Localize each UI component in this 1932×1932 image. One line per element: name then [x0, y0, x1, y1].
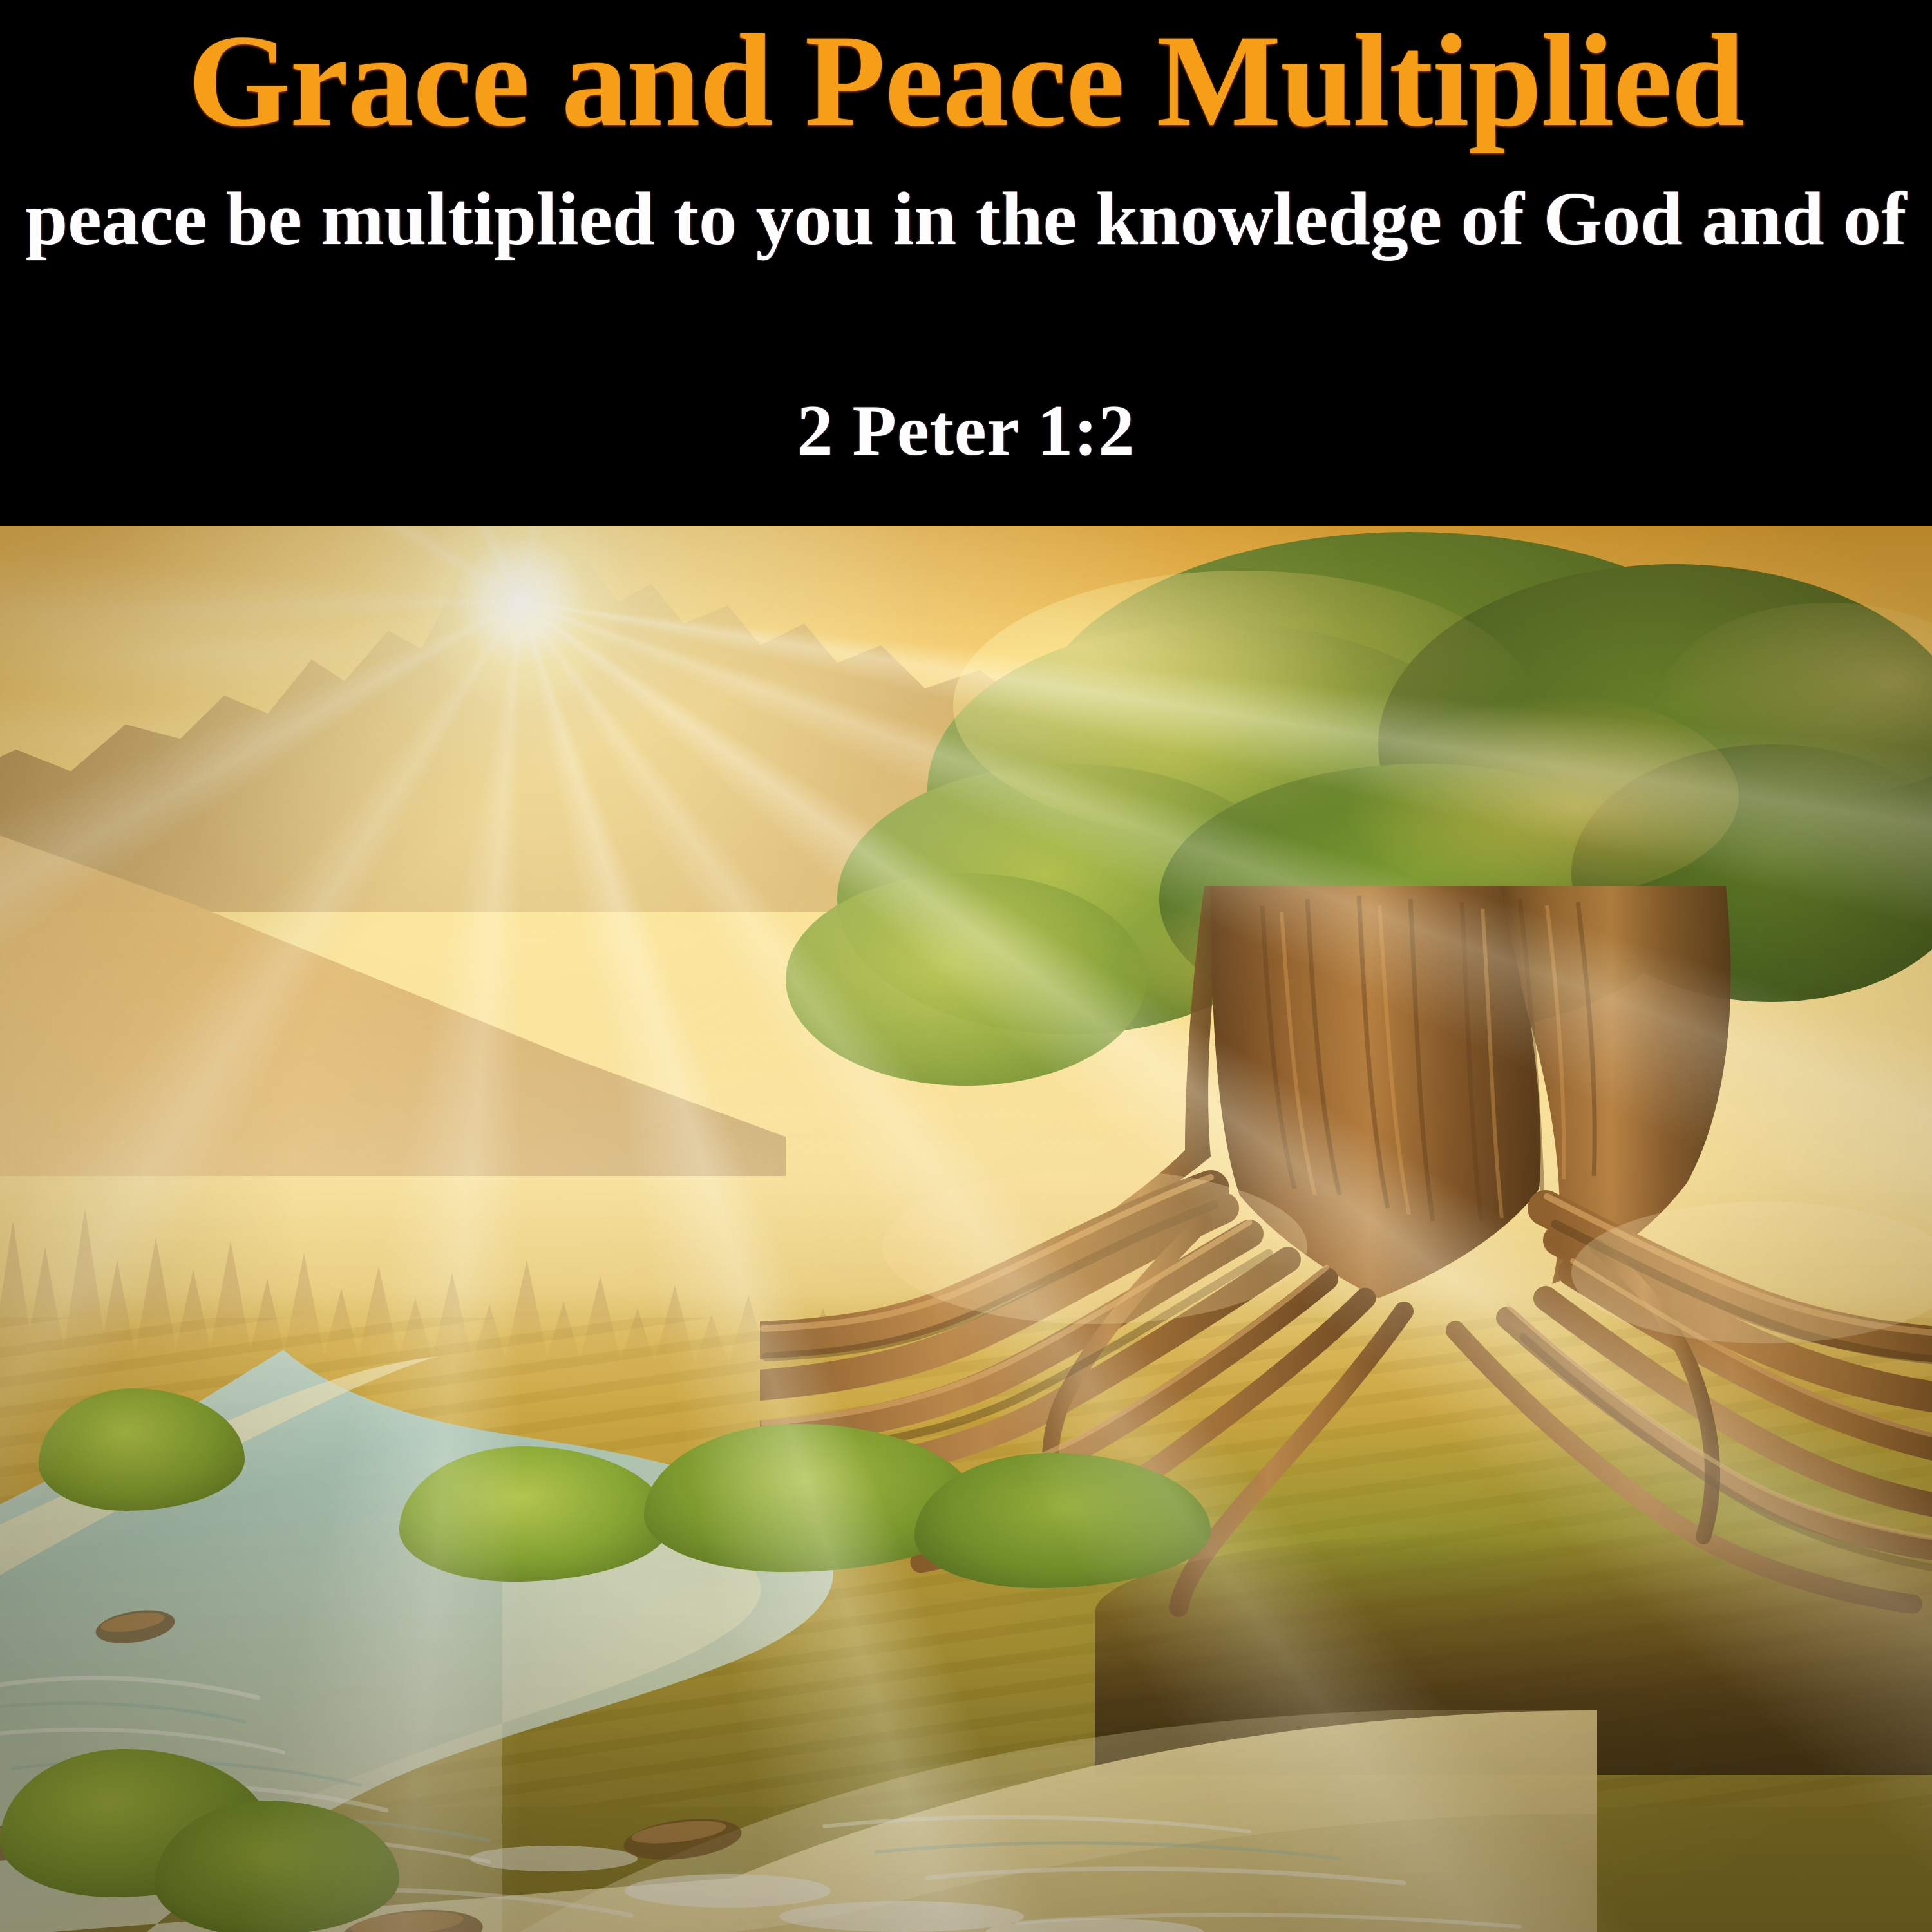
scripture-banner: Grace and Peace Multiplied peace be mult…	[0, 0, 1932, 526]
verse-row: peace be multiplied to you in the knowle…	[0, 161, 1932, 290]
reference-row: 2 Peter 1:2	[0, 390, 1932, 506]
landscape-artwork	[0, 526, 1932, 1932]
page-title: Grace and Peace Multiplied	[188, 12, 1744, 150]
verse-text: peace be multiplied to you in the knowle…	[26, 177, 1907, 261]
sun-rays	[0, 526, 1932, 1932]
page-root: Grace and Peace Multiplied peace be mult…	[0, 0, 1932, 1932]
title-row: Grace and Peace Multiplied	[0, 0, 1932, 161]
scripture-reference: 2 Peter 1:2	[797, 390, 1135, 473]
